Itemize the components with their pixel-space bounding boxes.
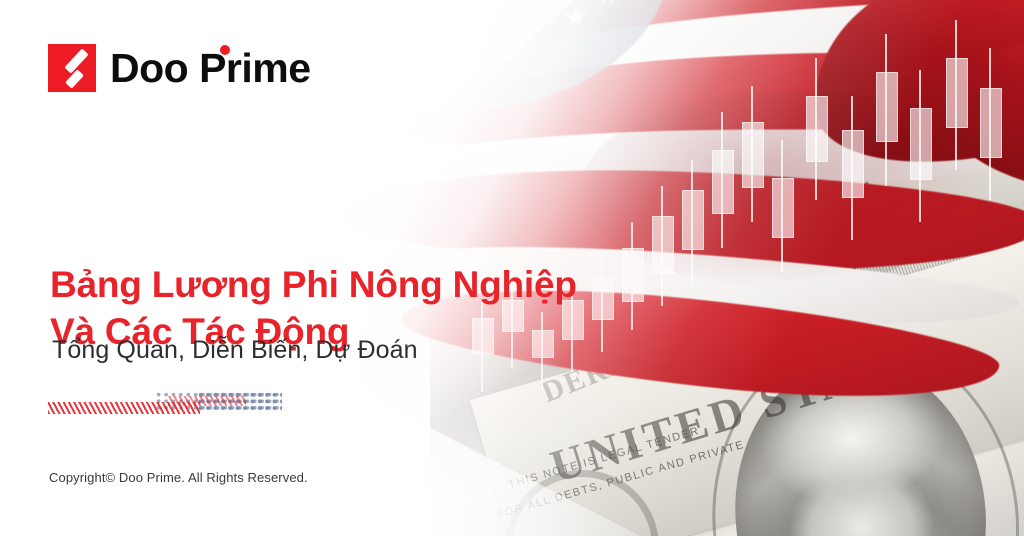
banner-content: Doo Prime Bảng Lương Phi Nông Nghiệp Và … — [0, 0, 1024, 536]
doo-prime-logo-mark-icon — [48, 44, 96, 92]
headline-line-1: Bảng Lương Phi Nông Nghiệp — [50, 264, 577, 305]
brand-logo[interactable]: Doo Prime — [48, 44, 311, 92]
brand-wordmark: Doo Prime — [110, 48, 311, 89]
promo-banner: DOLLAR L TENDER IC AND PRIVATE Rosa Guma… — [0, 0, 1024, 536]
logo-i-dot-icon — [220, 45, 230, 55]
flag-motif-divider — [48, 392, 280, 414]
divider-hatch-icon — [48, 402, 200, 414]
page-subtitle: Tổng Quan, Diễn Biến, Dự Đoán — [52, 336, 418, 365]
copyright-notice: Copyright© Doo Prime. All Rights Reserve… — [49, 470, 308, 485]
brand-wordmark-text: Doo Prime — [110, 45, 311, 91]
logo-slash-bottom-icon — [65, 69, 84, 88]
